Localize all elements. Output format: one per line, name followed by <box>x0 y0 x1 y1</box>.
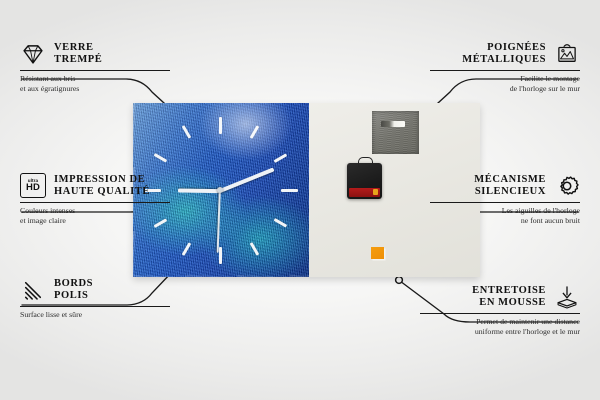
tick-7 <box>182 242 191 255</box>
feature-subtitle-line1: Surface lisse et sûre <box>20 310 170 320</box>
feature-verre-trempe: VERRE TREMPÉ Résistant aux bris et aux é… <box>20 41 170 93</box>
feature-entretoise-en-mousse: ENTRETOISE EN MOUSSE Permet de maintenir… <box>420 284 580 336</box>
battery <box>349 188 380 197</box>
feature-subtitle-line1: Permet de maintenir une distance <box>420 317 580 327</box>
feature-header: BORDS POLIS <box>20 277 170 303</box>
feature-subtitle-line1: Les aiguilles de l'horloge <box>430 206 580 216</box>
feature-subtitle-line2: et image claire <box>20 216 170 226</box>
feature-subtitle-line1: Résistant aux bris <box>20 74 170 84</box>
title-rule <box>430 202 580 203</box>
feature-title: BORDS POLIS <box>54 278 93 303</box>
title-rule <box>20 70 170 71</box>
feature-subtitle-line2: et aux égratignures <box>20 84 170 94</box>
product-photo <box>133 103 480 277</box>
feature-header: ENTRETOISE EN MOUSSE <box>420 284 580 310</box>
feature-header: ultra HD IMPRESSION DE HAUTE QUALITÉ <box>20 173 170 199</box>
connector-dot-entretoise <box>396 277 403 284</box>
tick-11 <box>182 125 191 138</box>
feature-subtitle-line2: ne font aucun bruit <box>430 216 580 226</box>
feature-bords-polis: BORDS POLIS Surface lisse et sûre <box>20 277 170 320</box>
feature-subtitle-line1: Facilite le montage <box>430 74 580 84</box>
feature-poignees-metalliques: POIGNÉES MÉTALLIQUES Facilite le montage… <box>430 41 580 93</box>
clock-mechanism <box>347 163 382 199</box>
feature-title: VERRE TREMPÉ <box>54 42 102 67</box>
center-pin <box>217 187 223 193</box>
title-rule <box>430 70 580 71</box>
tick-10 <box>154 153 167 162</box>
gear-icon <box>554 173 580 199</box>
tick-4 <box>274 218 287 227</box>
title-rule <box>420 313 580 314</box>
feature-mecanisme-silencieux: MÉCANISME SILENCIEUX Les aiguilles de l'… <box>430 173 580 225</box>
infographic-canvas: VERRE TREMPÉ Résistant aux bris et aux é… <box>0 0 600 400</box>
tick-12 <box>219 117 222 134</box>
tick-1 <box>250 125 259 138</box>
feature-subtitle-line2: uniforme entre l'horloge et le mur <box>420 327 580 337</box>
polished-edges-icon <box>20 277 46 303</box>
feature-header: VERRE TREMPÉ <box>20 41 170 67</box>
feature-title: ENTRETOISE EN MOUSSE <box>472 285 546 310</box>
minute-hand <box>219 167 274 193</box>
feature-title: POIGNÉES MÉTALLIQUES <box>462 42 546 67</box>
hanger-keyhole <box>381 121 405 127</box>
tick-5 <box>250 242 259 255</box>
ultra-hd-icon: ultra HD <box>20 173 46 199</box>
title-rule <box>20 306 170 307</box>
foam-spacer <box>371 247 384 259</box>
hour-hand <box>178 188 220 193</box>
feature-subtitle-line1: Couleurs intenses <box>20 206 170 216</box>
feature-title: IMPRESSION DE HAUTE QUALITÉ <box>54 174 150 199</box>
title-rule <box>20 202 170 203</box>
tick-6 <box>219 247 222 264</box>
diamond-icon <box>20 41 46 67</box>
second-hand <box>217 191 221 253</box>
feature-subtitle-line2: de l'horloge sur le mur <box>430 84 580 94</box>
tick-2 <box>274 153 287 162</box>
feature-header: MÉCANISME SILENCIEUX <box>430 173 580 199</box>
feature-title: MÉCANISME SILENCIEUX <box>474 174 546 199</box>
feature-header: POIGNÉES MÉTALLIQUES <box>430 41 580 67</box>
foam-spacer-arrow-icon <box>554 284 580 310</box>
feature-impression-haute-qualite: ultra HD IMPRESSION DE HAUTE QUALITÉ Cou… <box>20 173 170 225</box>
mechanism-hook <box>358 157 373 167</box>
wall-hanger-frame-icon <box>554 41 580 67</box>
tick-3 <box>281 189 298 192</box>
metal-hanger-plate <box>372 111 419 154</box>
